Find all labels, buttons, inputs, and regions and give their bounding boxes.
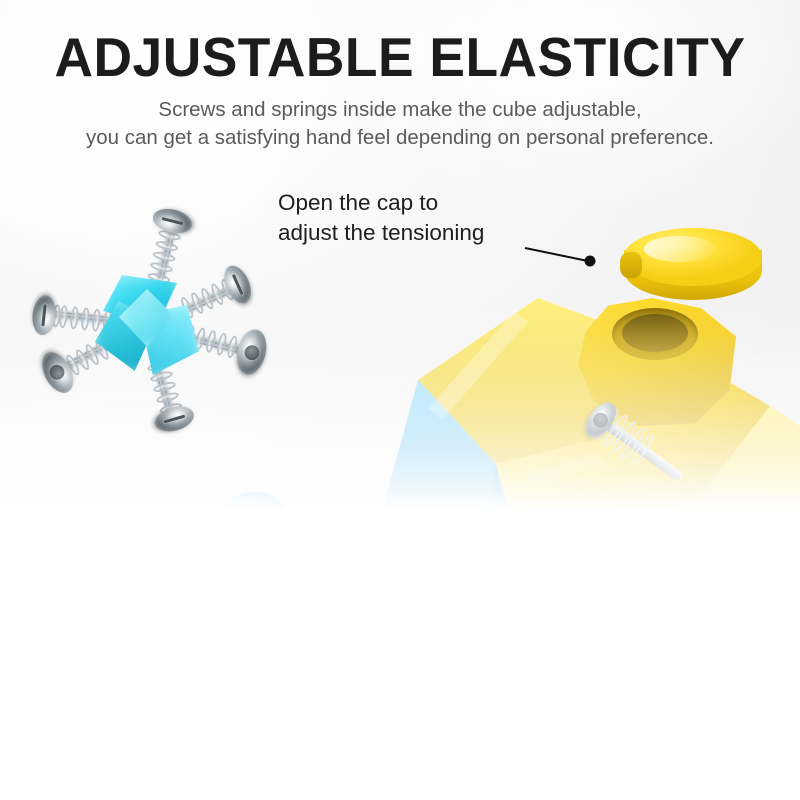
cap-notch: [620, 252, 642, 278]
core-hub: [89, 271, 205, 379]
callout-leader-line: [500, 235, 610, 285]
yellow-center-cap-detached: [618, 228, 770, 306]
center-core-spider-assembly: [0, 170, 302, 480]
callout-text: Open the cap to adjust the tensioning: [278, 188, 484, 248]
cap-top: [624, 228, 762, 286]
subtitle-line-2: you can get a satisfying hand feel depen…: [0, 123, 800, 153]
page-title: ADJUSTABLE ELASTICITY: [12, 28, 788, 87]
subtitle-line-1: Screws and springs inside make the cube …: [0, 95, 800, 125]
product-marketing-image: ADJUSTABLE ELASTICITY Screws and springs…: [0, 0, 800, 800]
